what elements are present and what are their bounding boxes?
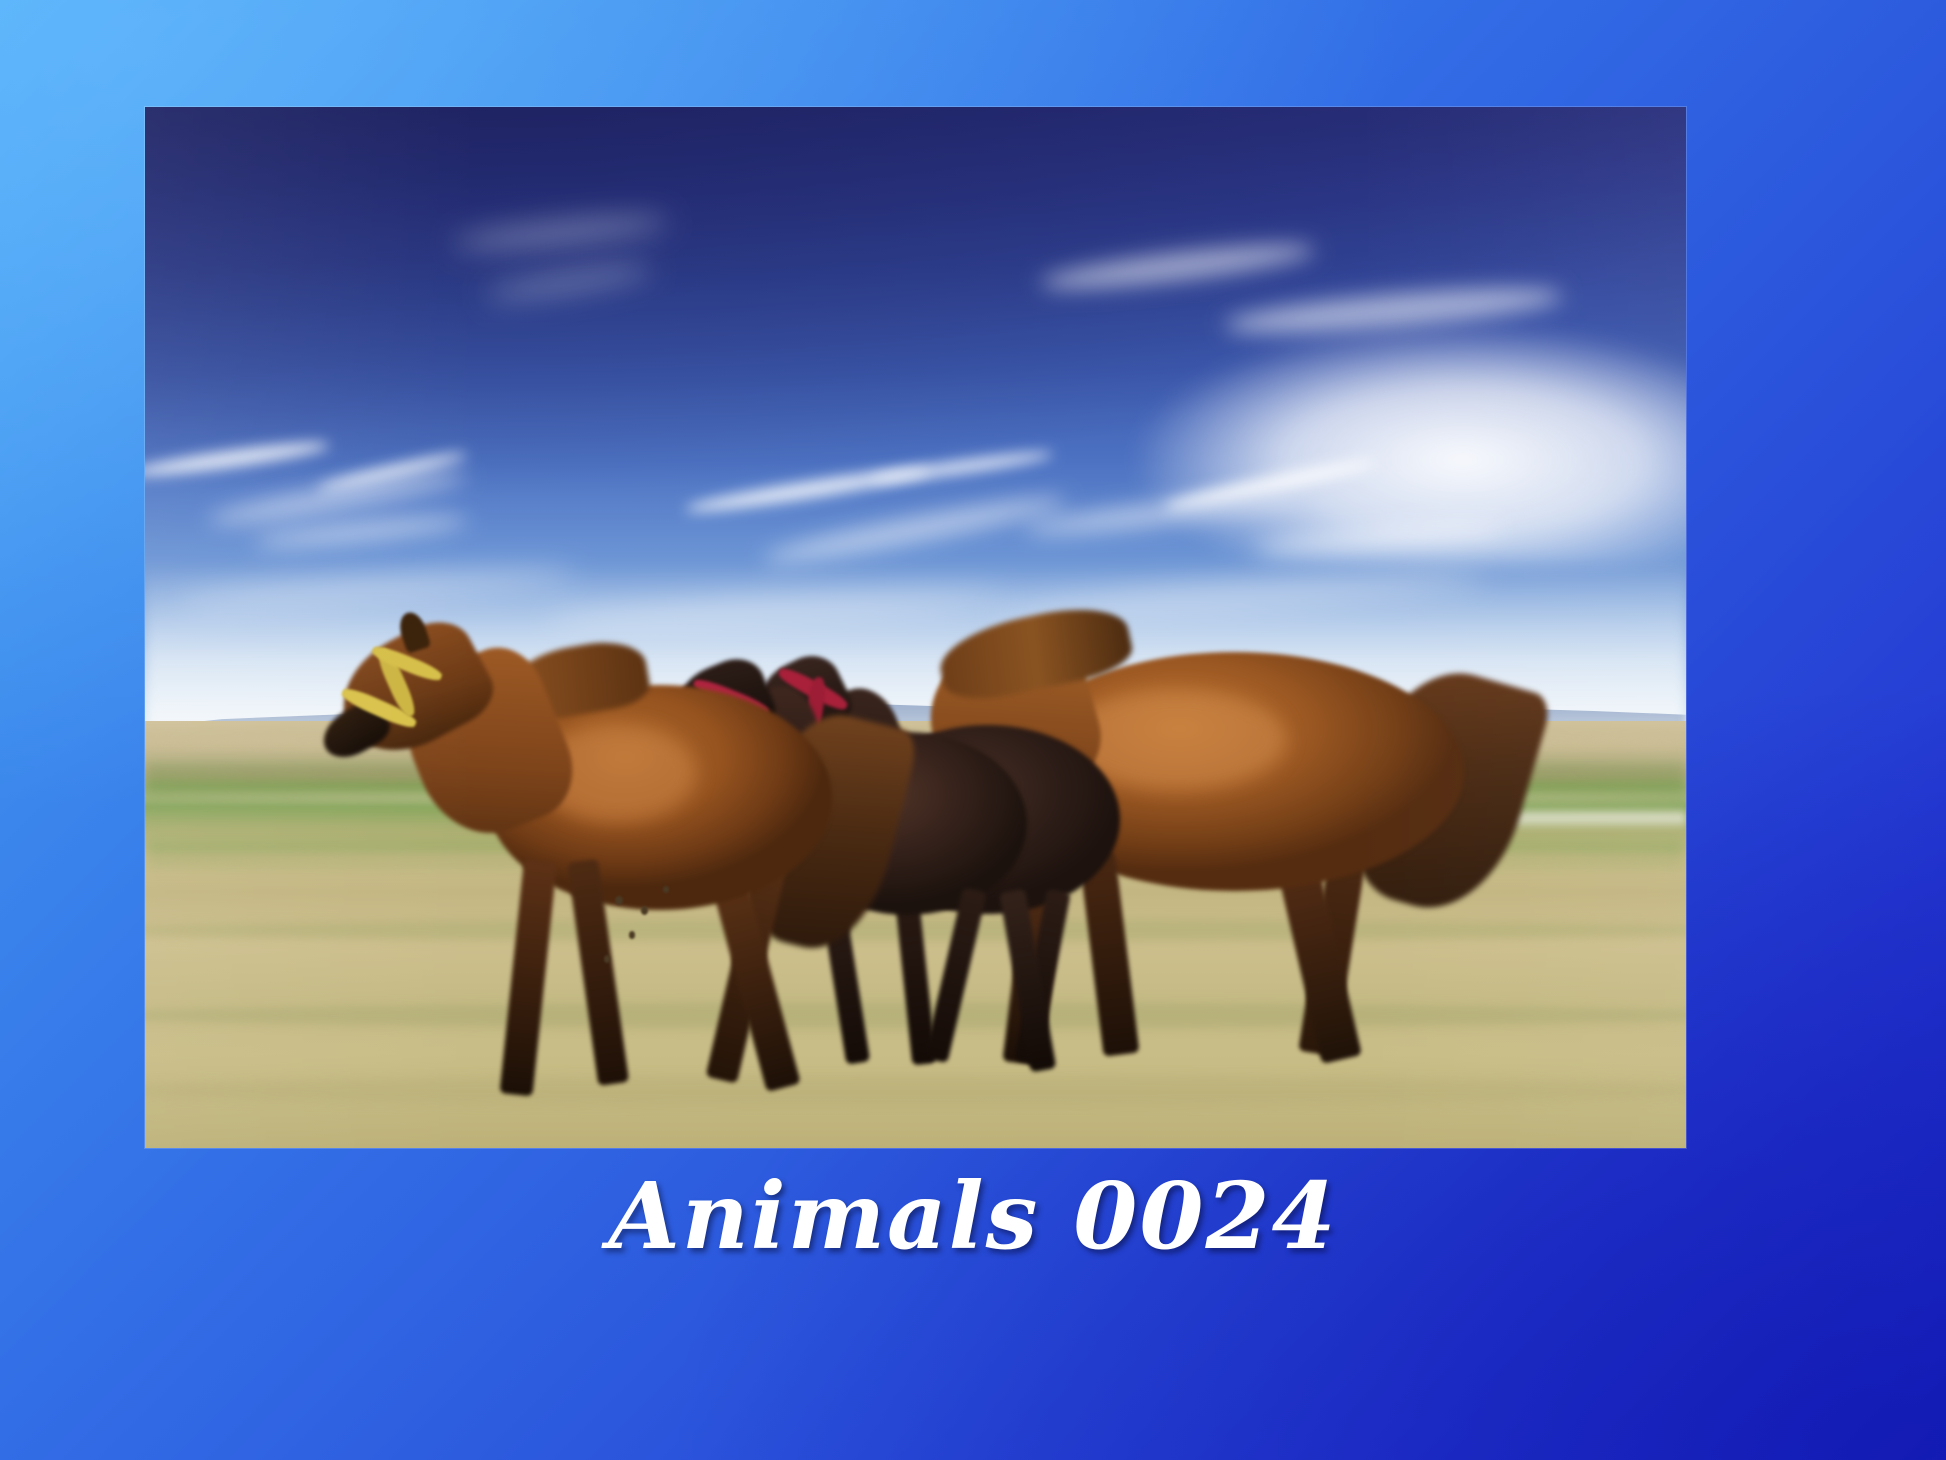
dirt-speck: [641, 906, 648, 914]
slide-photo: [145, 107, 1686, 1148]
dirt-speck: [615, 896, 623, 905]
presentation-slide: Animals 0024: [0, 0, 1946, 1460]
dirt-speck: [663, 886, 669, 893]
cloud-bank: [1023, 315, 1686, 565]
lead-chestnut-horse: [376, 607, 992, 1096]
slide-caption: Animals 0024: [0, 1165, 1946, 1268]
dirt-speck: [629, 931, 635, 938]
horse-leg: [500, 859, 558, 1096]
